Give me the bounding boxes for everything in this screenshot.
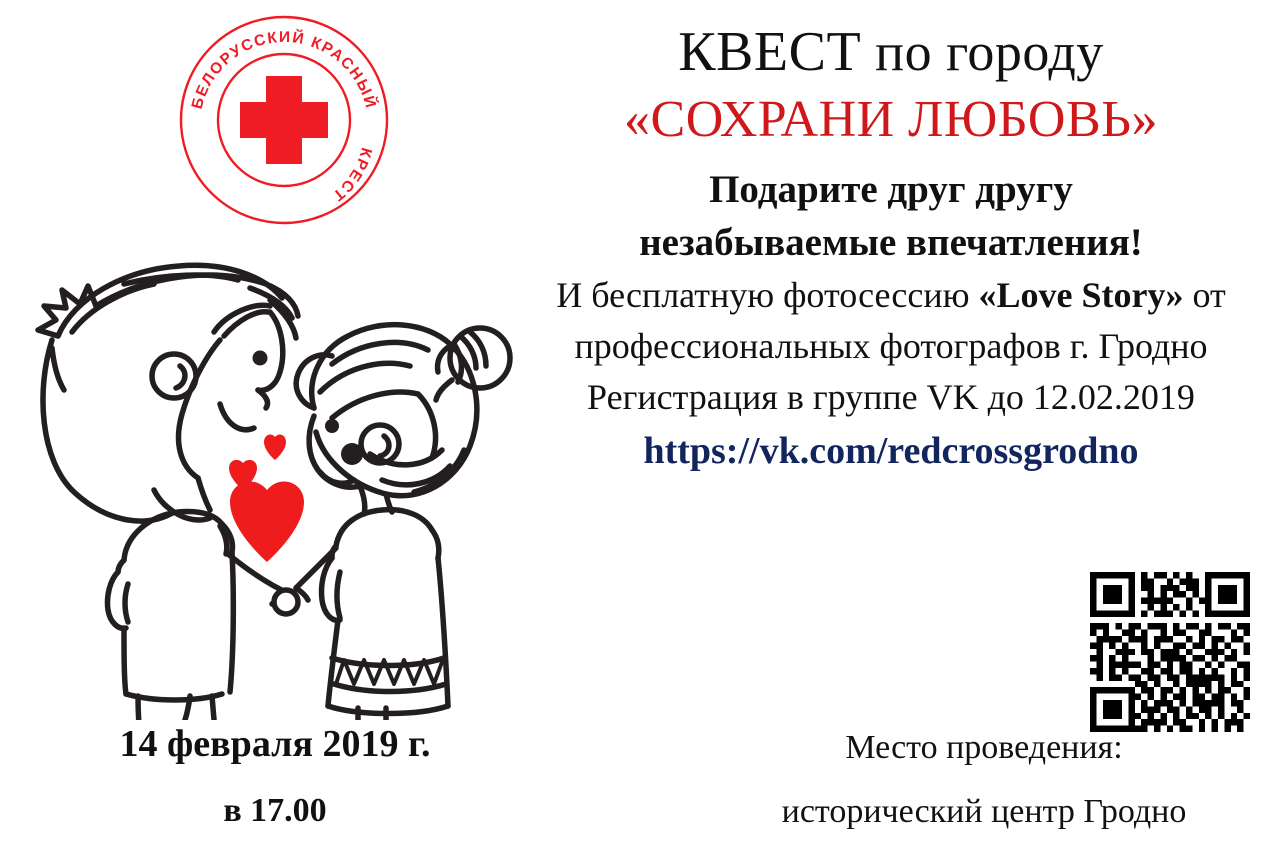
body-line-1-post: от	[1184, 275, 1226, 315]
headline-line-2: «СОХРАНИ ЛЮБОВЬ»	[524, 92, 1258, 148]
couple-holding-hands-doodle	[14, 240, 524, 720]
event-datetime: 14 февраля 2019 г. в 17.00	[40, 722, 510, 830]
qr-code[interactable]	[1090, 572, 1250, 732]
body-line-3-registration: Регистрация в группе VK до 12.02.2019	[524, 372, 1258, 423]
body-line-1-pre: И бесплатную фотосессию	[556, 275, 978, 315]
event-date: 14 февраля 2019 г.	[40, 722, 510, 768]
lead-line-2: незабываемые впечатления!	[524, 216, 1258, 270]
headline-line-1-rest: по городу	[861, 22, 1104, 82]
body-line-1: И бесплатную фотосессию «Love Story» от	[524, 270, 1258, 321]
body-line-2: профессиональных фотографов г. Гродно	[524, 321, 1258, 372]
event-venue: Место проведения: исторический центр Гро…	[710, 728, 1258, 831]
love-story-emphasis: «Love Story»	[979, 275, 1184, 315]
poster-text-column: КВЕСТ по городу «СОХРАНИ ЛЮБОВЬ» Подарит…	[524, 22, 1258, 477]
event-time: в 17.00	[40, 792, 510, 830]
headline-line-1: КВЕСТ по городу	[524, 22, 1258, 82]
headline-keyword: КВЕСТ	[678, 21, 861, 83]
venue-value: исторический центр Гродно	[710, 793, 1258, 831]
belarusian-red-cross-logo: БЕЛОРУССКИЙ КРАСНЫЙ КРЕСТ	[178, 14, 390, 226]
lead-line-1: Подарите друг другу	[524, 163, 1258, 217]
venue-label: Место проведения:	[710, 728, 1258, 769]
vk-group-link[interactable]: https://vk.com/redcrossgrodno	[524, 426, 1258, 477]
hearts-group	[229, 435, 304, 562]
poster-canvas: БЕЛОРУССКИЙ КРАСНЫЙ КРЕСТ	[0, 0, 1280, 866]
svg-text:КРЕСТ: КРЕСТ	[328, 146, 375, 205]
